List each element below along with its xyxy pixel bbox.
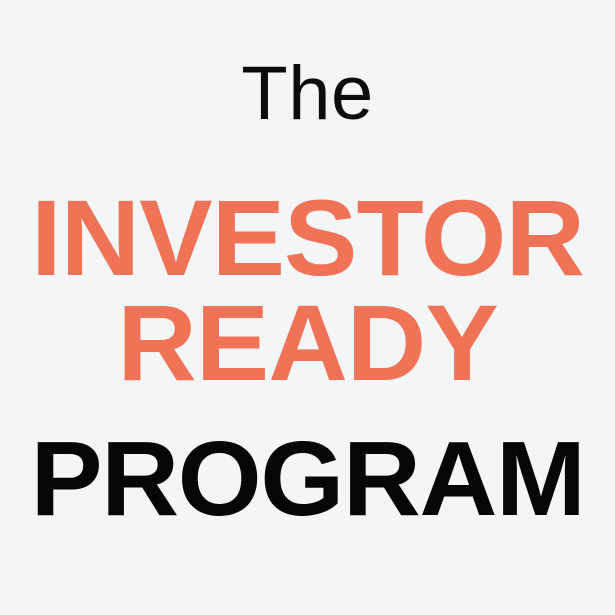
title-word-ready: READY (0, 289, 615, 397)
poster-canvas: The INVESTOR READY PROGRAM (0, 0, 615, 615)
title-prefix-the: The (0, 56, 615, 132)
title-word-investor: INVESTOR (0, 184, 615, 292)
title-word-program: PROGRAM (0, 426, 615, 532)
